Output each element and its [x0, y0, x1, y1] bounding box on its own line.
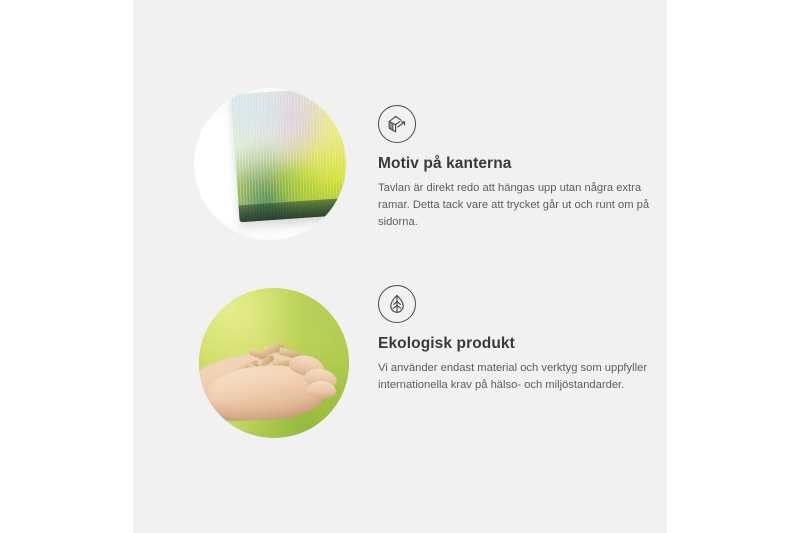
product-feature-page: Motiv på kanterna Tavlan är direkt redo …	[0, 0, 800, 533]
feature-text-column: Ekologisk produkt Vi använder endast mat…	[378, 285, 663, 394]
feature-title: Ekologisk produkt	[378, 335, 663, 354]
chips-photo-scene	[199, 288, 349, 438]
canvas-wrapped-edges-icon	[378, 105, 416, 143]
canvas-photo-scene	[194, 88, 346, 240]
canvas-corner-closeup-photo	[194, 88, 346, 240]
finger	[307, 381, 336, 398]
feature-title: Motiv på kanterna	[378, 155, 663, 174]
leaf-icon	[378, 285, 416, 323]
feature-text-column: Motiv på kanterna Tavlan är direkt redo …	[378, 105, 663, 231]
canvas-wrapped-edges-glyph	[385, 112, 409, 136]
feature-description: Vi använder endast material och verktyg …	[378, 360, 650, 394]
hands-with-wood-chips-photo	[199, 288, 349, 438]
leaf-glyph	[385, 292, 409, 316]
canvas-block	[231, 88, 346, 222]
content-panel: Motiv på kanterna Tavlan är direkt redo …	[133, 0, 667, 533]
feature-description: Tavlan är direkt redo att hängas upp uta…	[378, 180, 650, 231]
